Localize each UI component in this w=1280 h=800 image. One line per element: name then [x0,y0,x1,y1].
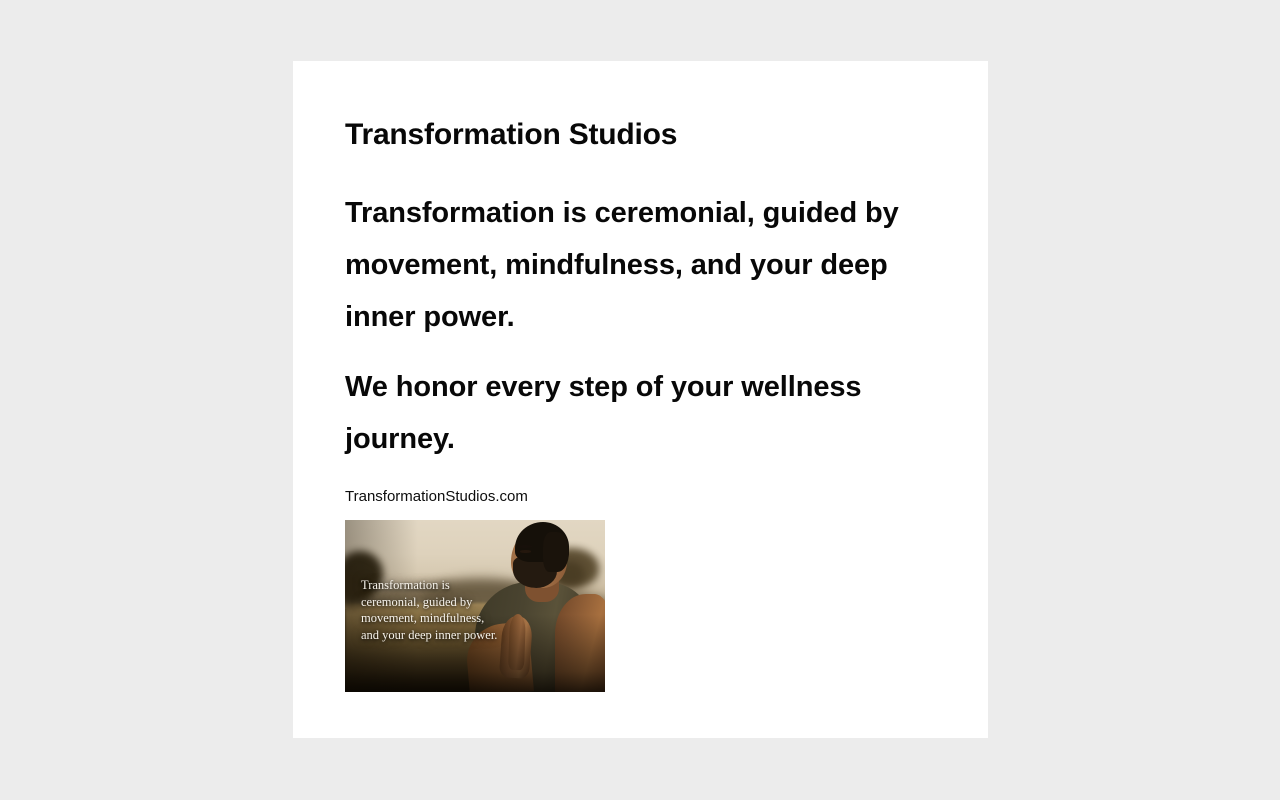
promo-photo: Transformation is ceremonial, guided by … [345,520,605,692]
page-root: Transformation Studios Transformation is… [0,0,1280,800]
headline-secondary: We honor every step of your wellness jou… [345,361,945,465]
headline-primary: Transformation is ceremonial, guided by … [345,187,945,343]
photo-overlay-line-4: and your deep inner power. [361,627,557,644]
site-url: TransformationStudios.com [345,487,948,507]
card-content: Transformation Studios Transformation is… [345,117,948,692]
photo-overlay-line-3: movement, mindfulness, [361,610,557,627]
photo-overlay-text: Transformation is ceremonial, guided by … [361,577,557,643]
photo-overlay-line-1: Transformation is [361,577,557,594]
content-card: Transformation Studios Transformation is… [293,61,988,738]
brand-title: Transformation Studios [345,117,948,153]
photo-overlay-line-2: ceremonial, guided by [361,594,557,611]
